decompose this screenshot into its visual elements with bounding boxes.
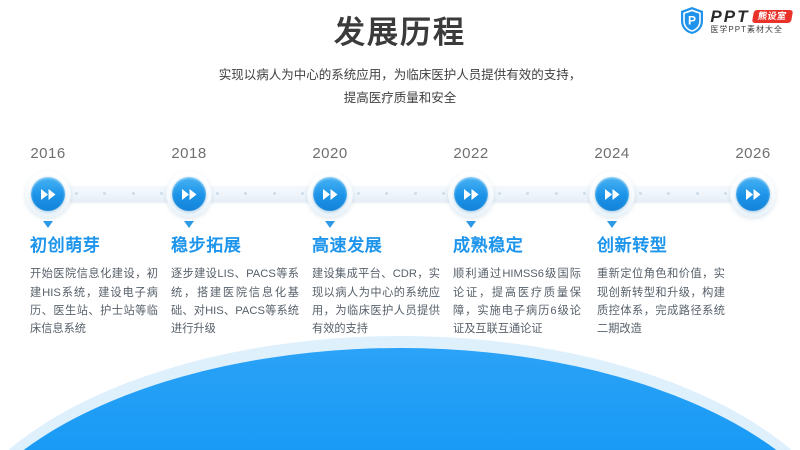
timeline-tick [498,192,501,195]
timeline-tick [555,192,558,195]
page-title: 发展历程 [0,14,800,51]
timeline-connector-arrow-icon [184,221,194,228]
subtitle-line-2: 提高医疗质量和安全 [0,87,800,110]
timeline-year-label: 2016 [3,145,93,162]
timeline-year-label: 2024 [567,145,657,162]
milestone-column-2018: 稳步拓展逐步建设LIS、PACS等系统，搭建医院信息化基础、对HIS、PACS等… [171,236,299,338]
fast-forward-icon [454,177,488,211]
timeline-tick [357,192,360,195]
timeline-tick [244,192,247,195]
subtitle-line-1: 实现以病人为中心的系统应用，为临床医护人员提供有效的支持， [0,64,800,87]
timeline-tick [724,192,727,195]
timeline-node-2026[interactable] [730,171,776,217]
timeline-year-label: 2020 [285,145,375,162]
timeline-tick [273,192,276,195]
milestone-body: 顺利通过HIMSS6级国际论证，提高医疗质量保障，实施电子病历6级论证及互联互通… [453,265,581,338]
fast-forward-icon [172,177,206,211]
timeline: 201620182020202220242026 [0,145,800,230]
timeline-year-label: 2026 [708,145,798,162]
milestone-columns: 初创萌芽开始医院信息化建设，初建HIS系统，建设电子病历、医生站、护士站等临床信… [0,236,800,366]
timeline-connector-arrow-icon [466,221,476,228]
timeline-track [46,186,754,202]
timeline-connector-arrow-icon [607,221,617,228]
milestone-column-2016: 初创萌芽开始医院信息化建设，初建HIS系统，建设电子病历、医生站、护士站等临床信… [30,236,158,338]
timeline-tick [216,192,219,195]
fast-forward-icon [595,177,629,211]
milestone-column-2024: 创新转型重新定位角色和价值，实现创新转型和升级，构建质控体系，完成路径系统二期改… [597,236,725,338]
timeline-tick [385,192,388,195]
timeline-tick [414,192,417,195]
timeline-tick [583,192,586,195]
milestone-heading: 稳步拓展 [171,236,299,256]
timeline-tick [132,192,135,195]
milestone-heading: 创新转型 [597,236,725,256]
milestone-column-2020: 高速发展建设集成平台、CDR，实现以病人为中心的系统应用，为临床医护人员提供有效… [312,236,440,338]
timeline-tick [526,192,529,195]
timeline-year-label: 2018 [144,145,234,162]
timeline-node-2022[interactable] [448,171,494,217]
timeline-tick [639,192,642,195]
timeline-node-2016[interactable] [25,171,71,217]
milestone-body: 建设集成平台、CDR，实现以病人为中心的系统应用，为临床医护人员提供有效的支持 [312,265,440,338]
timeline-tick [667,192,670,195]
timeline-tick [75,192,78,195]
timeline-connector-arrow-icon [43,221,53,228]
timeline-tick [696,192,699,195]
milestone-body: 开始医院信息化建设，初建HIS系统，建设电子病历、医生站、护士站等临床信息系统 [30,265,158,338]
slide-canvas: P PPT 熊设室 医学PPT素材大全 发展历程 实现以病人为中心的系统应用，为… [0,0,800,450]
page-subtitle: 实现以病人为中心的系统应用，为临床医护人员提供有效的支持， 提高医疗质量和安全 [0,64,800,110]
timeline-tick [103,192,106,195]
milestone-column-2022: 成熟稳定顺利通过HIMSS6级国际论证，提高医疗质量保障，实施电子病历6级论证及… [453,236,581,338]
fast-forward-icon [736,177,770,211]
milestone-heading: 初创萌芽 [30,236,158,256]
timeline-connector-arrow-icon [325,221,335,228]
timeline-node-2024[interactable] [589,171,635,217]
timeline-node-2020[interactable] [307,171,353,217]
milestone-body: 重新定位角色和价值，实现创新转型和升级，构建质控体系，完成路径系统二期改造 [597,265,725,338]
timeline-tick [301,192,304,195]
timeline-tick [442,192,445,195]
fast-forward-icon [313,177,347,211]
timeline-year-label: 2022 [426,145,516,162]
timeline-tick [160,192,163,195]
milestone-heading: 高速发展 [312,236,440,256]
milestone-body: 逐步建设LIS、PACS等系统，搭建医院信息化基础、对HIS、PACS等系统进行… [171,265,299,338]
milestone-heading: 成熟稳定 [453,236,581,256]
timeline-node-2018[interactable] [166,171,212,217]
fast-forward-icon [31,177,65,211]
